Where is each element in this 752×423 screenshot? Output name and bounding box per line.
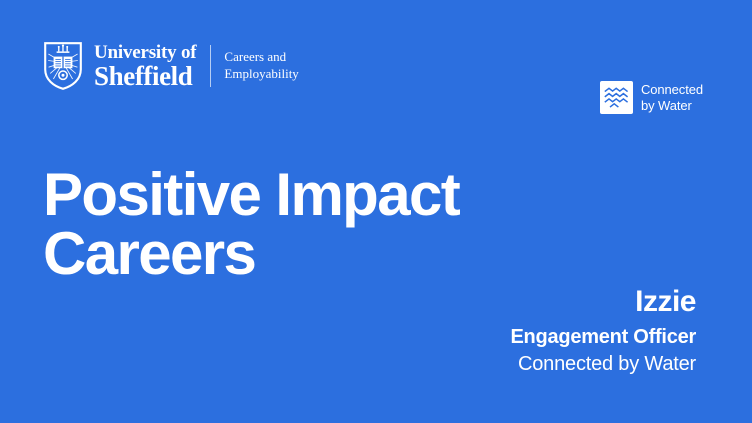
department-line1: Careers and xyxy=(224,49,298,66)
connected-by-water-logo: Connected by Water xyxy=(600,81,703,114)
rosette-icon xyxy=(59,71,67,79)
logo-divider xyxy=(210,45,211,87)
speaker-block: Izzie Engagement Officer Connected by Wa… xyxy=(510,286,696,377)
speaker-organisation: Connected by Water xyxy=(510,351,696,377)
department-name: Careers and Employability xyxy=(224,49,298,82)
partner-name-line1: Connected xyxy=(641,82,703,97)
title-slide: University of Sheffield Careers and Empl… xyxy=(0,0,752,423)
partner-name-line2: by Water xyxy=(641,98,703,113)
partner-logo-name: Connected by Water xyxy=(641,82,703,113)
university-wordmark: University of Sheffield xyxy=(94,43,196,90)
water-waves-icon xyxy=(600,81,633,114)
department-line2: Employability xyxy=(224,66,298,83)
speaker-role: Engagement Officer xyxy=(510,324,696,350)
speaker-name: Izzie xyxy=(510,286,696,318)
university-of-sheffield-logo: University of Sheffield Careers and Empl… xyxy=(44,40,299,92)
open-book-icon xyxy=(54,57,73,69)
university-wordmark-line2: Sheffield xyxy=(94,63,196,90)
university-wordmark-line1: University of xyxy=(94,43,196,62)
slide-title-line2: Careers xyxy=(43,225,459,284)
sheffield-crest-icon xyxy=(44,42,82,90)
slide-title-line1: Positive Impact xyxy=(43,166,459,225)
slide-title: Positive Impact Careers xyxy=(43,166,459,284)
